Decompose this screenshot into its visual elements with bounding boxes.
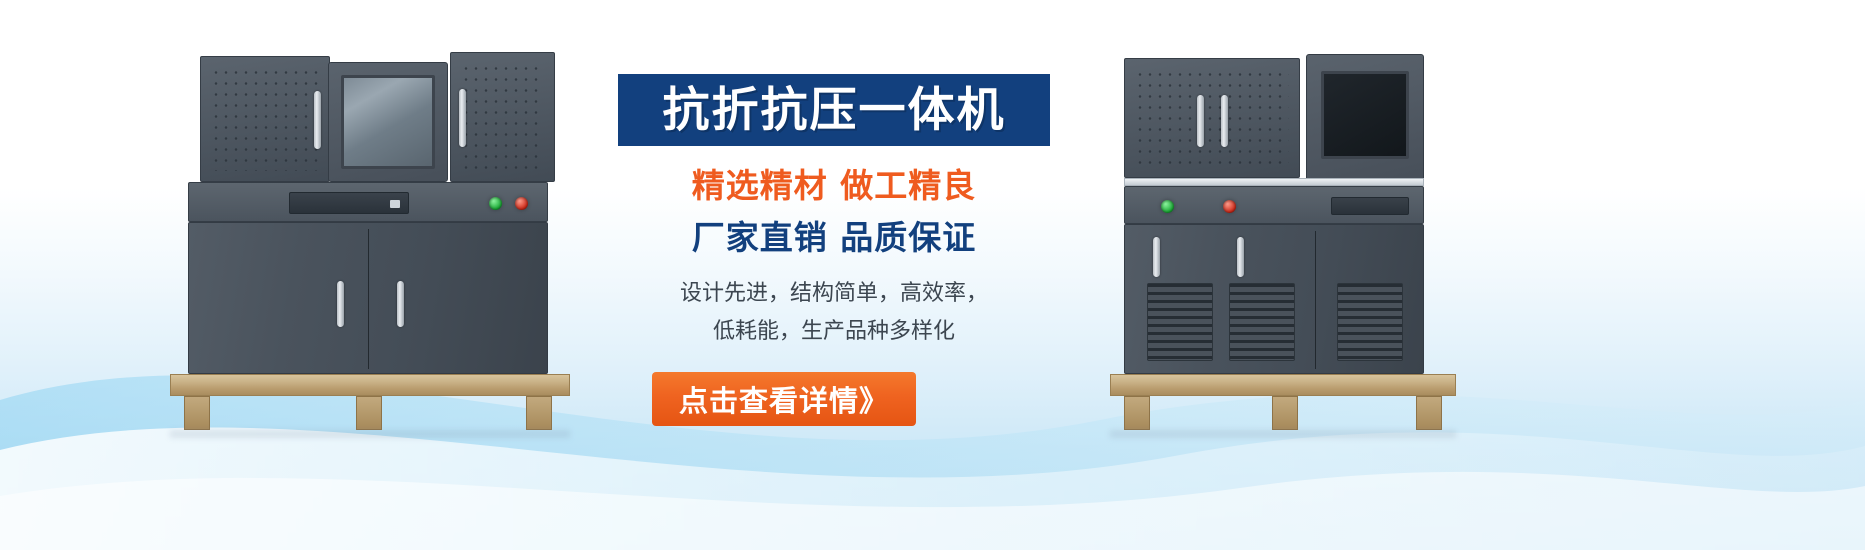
cabinet-handle-icon [1153,237,1160,277]
description-line-2: 低耗能，生产品种多样化 [618,313,1050,352]
left-machine-top-left-panel [200,56,330,182]
product-shadow [170,430,570,438]
cabinet-door-seam [1315,231,1316,369]
monitor-screen [341,75,435,169]
control-panel-display [1331,197,1409,215]
left-machine-control-deck [188,182,548,222]
pallet-leg [526,396,552,430]
right-machine-trim-strip [1124,178,1424,186]
left-machine-main-cabinet [188,222,548,374]
cabinet-handle-icon [1197,95,1204,147]
cabinet-door-seam [368,229,369,369]
left-product-image [160,40,590,430]
red-indicator-lamp [515,197,528,210]
perforated-pattern [461,63,544,171]
pallet-leg [184,396,210,430]
product-promo-banner: 抗折抗压一体机 精选精材 做工精良 厂家直销 品质保证 设计先进，结构简单，高效… [0,0,1865,550]
promo-copy-block: 抗折抗压一体机 精选精材 做工精良 厂家直销 品质保证 设计先进，结构简单，高效… [618,74,1088,426]
slogan-secondary: 厂家直销 品质保证 [618,220,1050,256]
left-machine-monitor-housing [328,62,448,182]
display-indicator [390,200,400,208]
right-machine-monitor-housing [1306,54,1424,182]
right-machine-top-panel [1124,58,1300,178]
cabinet-handle-icon [1237,237,1244,277]
cabinet-handle-icon [397,281,404,327]
control-panel-display [289,192,409,214]
page-title: 抗折抗压一体机 [663,87,1006,134]
right-machine-main-cabinet [1124,224,1424,374]
green-indicator-lamp [1161,200,1174,213]
banner-title-bar: 抗折抗压一体机 [618,74,1050,146]
ventilation-grille [1337,283,1403,361]
perforated-pattern [1135,69,1289,167]
cabinet-handle-icon [1221,95,1228,147]
shipping-pallet [1110,374,1456,396]
pallet-leg [1416,396,1442,430]
cabinet-handle-icon [337,281,344,327]
right-machine-control-deck [1124,186,1424,224]
description-block: 设计先进，结构简单，高效率， 低耗能，生产品种多样化 [618,275,1050,352]
ventilation-grille [1229,283,1295,361]
slogan-primary: 精选精材 做工精良 [618,168,1050,204]
monitor-screen [1321,71,1409,159]
red-indicator-lamp [1223,200,1236,213]
shipping-pallet [170,374,570,396]
green-indicator-lamp [489,197,502,210]
pallet-leg [1272,396,1298,430]
pallet-leg [1124,396,1150,430]
product-shadow [1110,430,1456,438]
cabinet-handle-icon [459,89,466,147]
pallet-leg [356,396,382,430]
ventilation-grille [1147,283,1213,361]
description-line-1: 设计先进，结构简单，高效率， [618,275,1050,314]
left-machine-top-right-panel [450,52,555,182]
right-product-image [1110,40,1500,430]
view-details-button[interactable]: 点击查看详情》 [652,372,916,426]
perforated-pattern [211,67,319,171]
cabinet-handle-icon [314,91,321,149]
